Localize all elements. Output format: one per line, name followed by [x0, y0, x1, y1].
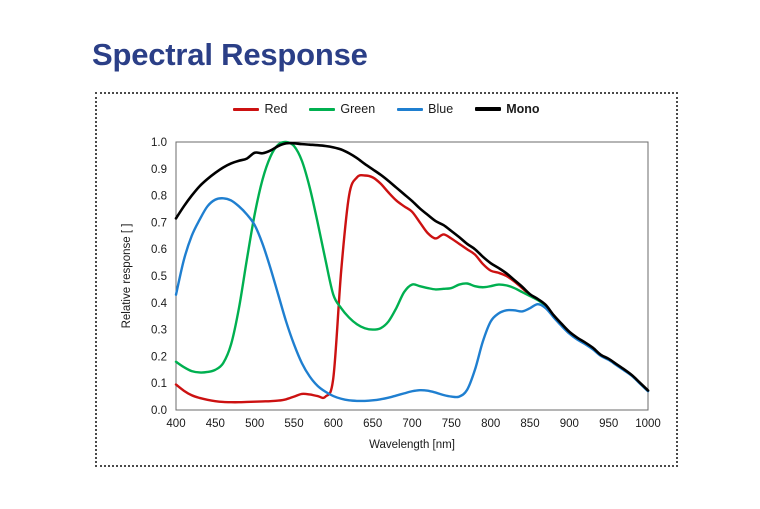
x-tick-label: 550	[284, 418, 303, 430]
x-tick-label: 1000	[635, 418, 661, 430]
x-axis-title: Wavelength [nm]	[369, 439, 455, 451]
y-tick-label: 0.9	[151, 164, 167, 176]
y-tick-label: 0.3	[151, 325, 167, 337]
y-tick-label: 0.2	[151, 351, 167, 363]
x-tick-label: 700	[402, 418, 421, 430]
x-tick-label: 950	[599, 418, 618, 430]
x-tick-label: 750	[442, 418, 461, 430]
y-axis-title: Relative response [ ]	[121, 224, 133, 329]
plot-area-border	[176, 142, 648, 410]
y-tick-label: 0.8	[151, 191, 167, 203]
x-tick-label: 900	[560, 418, 579, 430]
y-tick-labels: 0.00.10.20.30.40.50.60.70.80.91.0	[151, 137, 168, 417]
x-tick-label: 500	[245, 418, 264, 430]
x-tick-label: 850	[520, 418, 539, 430]
x-tick-label: 800	[481, 418, 500, 430]
y-tick-label: 0.6	[151, 244, 167, 256]
y-tick-label: 0.7	[151, 217, 167, 229]
y-tick-label: 1.0	[151, 137, 167, 149]
slide-canvas: Spectral Response Red Green Blue Mon	[0, 0, 760, 509]
figure-inner: Red Green Blue Mono 4004	[97, 94, 676, 465]
x-tick-labels: 4004505005506006507007508008509009501000	[166, 418, 660, 430]
x-tick-label: 400	[166, 418, 185, 430]
figure-frame: Red Green Blue Mono 4004	[95, 92, 678, 467]
spectral-response-chart: 4004505005506006507007508008509009501000…	[97, 94, 680, 469]
y-tick-label: 0.1	[151, 378, 167, 390]
y-tick-label: 0.0	[151, 405, 167, 417]
page-title: Spectral Response	[92, 38, 368, 72]
x-tick-label: 450	[206, 418, 225, 430]
y-tick-label: 0.5	[151, 271, 167, 283]
x-tick-label: 650	[363, 418, 382, 430]
x-tick-label: 600	[324, 418, 343, 430]
y-tick-label: 0.4	[151, 298, 168, 310]
